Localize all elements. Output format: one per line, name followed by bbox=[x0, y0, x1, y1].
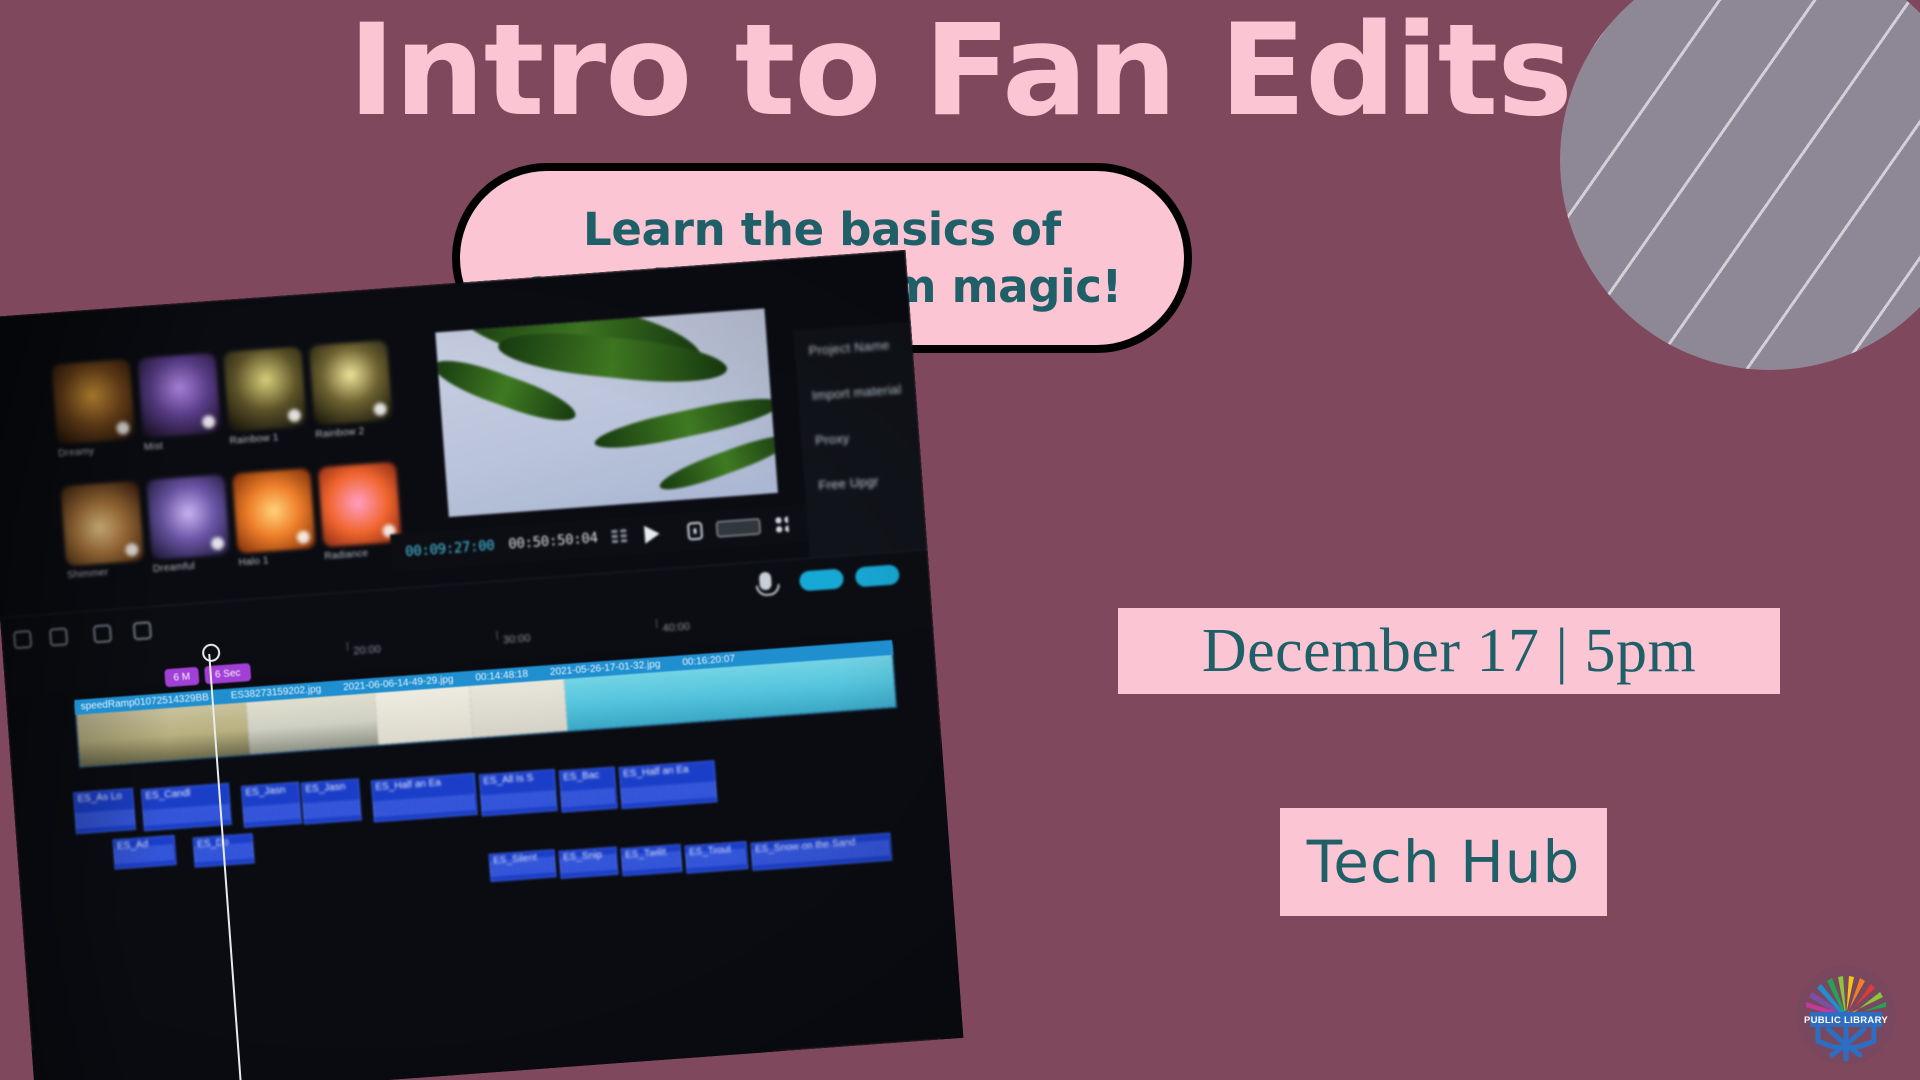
audio-clip: ES_Snow on the Sand bbox=[751, 833, 893, 871]
panel-item-import-material: Import material bbox=[811, 378, 948, 403]
effects-browser: Dreamy Mist Rainbow 1 Rainbow 2 Shimmer … bbox=[52, 339, 420, 624]
audio-clip: ES_Half an Ea bbox=[619, 760, 718, 809]
effect-item: Rainbow 1 bbox=[223, 346, 309, 463]
export-button-icon bbox=[716, 518, 761, 537]
venue-text: Tech Hub bbox=[1307, 828, 1581, 896]
total-timecode: 00:50:50:04 bbox=[508, 530, 598, 553]
clip-label: 00:16:20:07 bbox=[682, 653, 735, 668]
date-banner: December 17 | 5pm bbox=[1118, 608, 1780, 694]
effect-item: Dreamful bbox=[146, 474, 232, 591]
play-icon bbox=[644, 525, 660, 544]
audio-clip: ES_Twilit bbox=[621, 844, 683, 876]
effect-label: Halo 1 bbox=[238, 552, 317, 569]
effect-item: Mist bbox=[137, 353, 223, 470]
clip-label: 00:14:48:18 bbox=[475, 669, 528, 684]
ruler-mark: 20:00 bbox=[353, 643, 381, 657]
audio-clip: ES_Jasn bbox=[301, 778, 362, 824]
audio-clip: ES_Silent bbox=[489, 849, 557, 882]
venue-banner: Tech Hub bbox=[1280, 808, 1607, 916]
effect-thumbnail bbox=[137, 353, 221, 438]
page-title: Intro to Fan Edits bbox=[0, 0, 1920, 146]
effect-label: Shimmer bbox=[67, 564, 146, 581]
delete-icon bbox=[133, 621, 152, 640]
effect-item: Shimmer bbox=[61, 481, 147, 598]
public-library-logo: PUBLIC LIBRARY bbox=[1794, 963, 1898, 1067]
effect-item: Halo 1 bbox=[232, 468, 318, 585]
ruler-mark: 40:00 bbox=[662, 621, 690, 635]
grid-icon bbox=[611, 529, 631, 544]
effect-item: Rainbow 2 bbox=[309, 340, 395, 457]
logo-text: PUBLIC LIBRARY bbox=[1804, 1015, 1888, 1026]
panel-item-proxy: Proxy bbox=[815, 423, 952, 448]
audio-clip: ES_Ad bbox=[113, 835, 177, 869]
panel-item-free-upgrade: Free Upgr bbox=[818, 468, 955, 493]
redo-icon bbox=[49, 627, 68, 646]
audio-clip: ES_Snip bbox=[559, 847, 619, 879]
preview-monitor bbox=[435, 308, 778, 517]
undo-icon bbox=[13, 630, 32, 649]
current-timecode: 00:09:27:00 bbox=[405, 538, 495, 561]
fit-timeline-button bbox=[855, 564, 900, 587]
effect-thumbnail bbox=[223, 346, 307, 431]
editor-screen: Dreamy Mist Rainbow 1 Rainbow 2 Shimmer … bbox=[0, 250, 963, 1080]
audio-clip: ES_Jasn bbox=[241, 782, 302, 828]
effect-label: Mist bbox=[144, 436, 223, 453]
fullscreen-icon bbox=[773, 515, 789, 534]
date-text: December 17 | 5pm bbox=[1202, 616, 1696, 687]
effect-label: Rainbow 1 bbox=[229, 430, 308, 447]
split-icon bbox=[93, 624, 112, 643]
zoom-slider bbox=[799, 568, 844, 591]
audio-clip: ES_As Lo bbox=[73, 788, 136, 834]
microphone-icon bbox=[759, 572, 772, 591]
effect-thumbnail bbox=[318, 462, 402, 547]
effect-thumbnail bbox=[61, 481, 145, 566]
crop-icon bbox=[687, 522, 703, 541]
video-editor-photo: Dreamy Mist Rainbow 1 Rainbow 2 Shimmer … bbox=[0, 250, 963, 1080]
effect-thumbnail bbox=[146, 474, 230, 559]
audio-clip: ES_All Is S bbox=[479, 769, 558, 816]
effect-thumbnail bbox=[232, 468, 316, 553]
effect-thumbnail bbox=[52, 359, 136, 444]
audio-clip: ES_Half an Ea bbox=[371, 773, 478, 823]
effect-label: Rainbow 2 bbox=[315, 424, 394, 441]
effect-thumbnail bbox=[309, 340, 393, 425]
effect-label: Dreamy bbox=[58, 443, 137, 460]
audio-clip: ES_Trout bbox=[685, 841, 749, 873]
effect-label: Dreamful bbox=[152, 558, 231, 575]
marker-badge: 6 M bbox=[164, 667, 199, 687]
audio-clip: ES_Bac bbox=[559, 767, 618, 813]
effect-item: Dreamy bbox=[52, 359, 138, 476]
ruler-mark: 30:00 bbox=[503, 632, 531, 646]
